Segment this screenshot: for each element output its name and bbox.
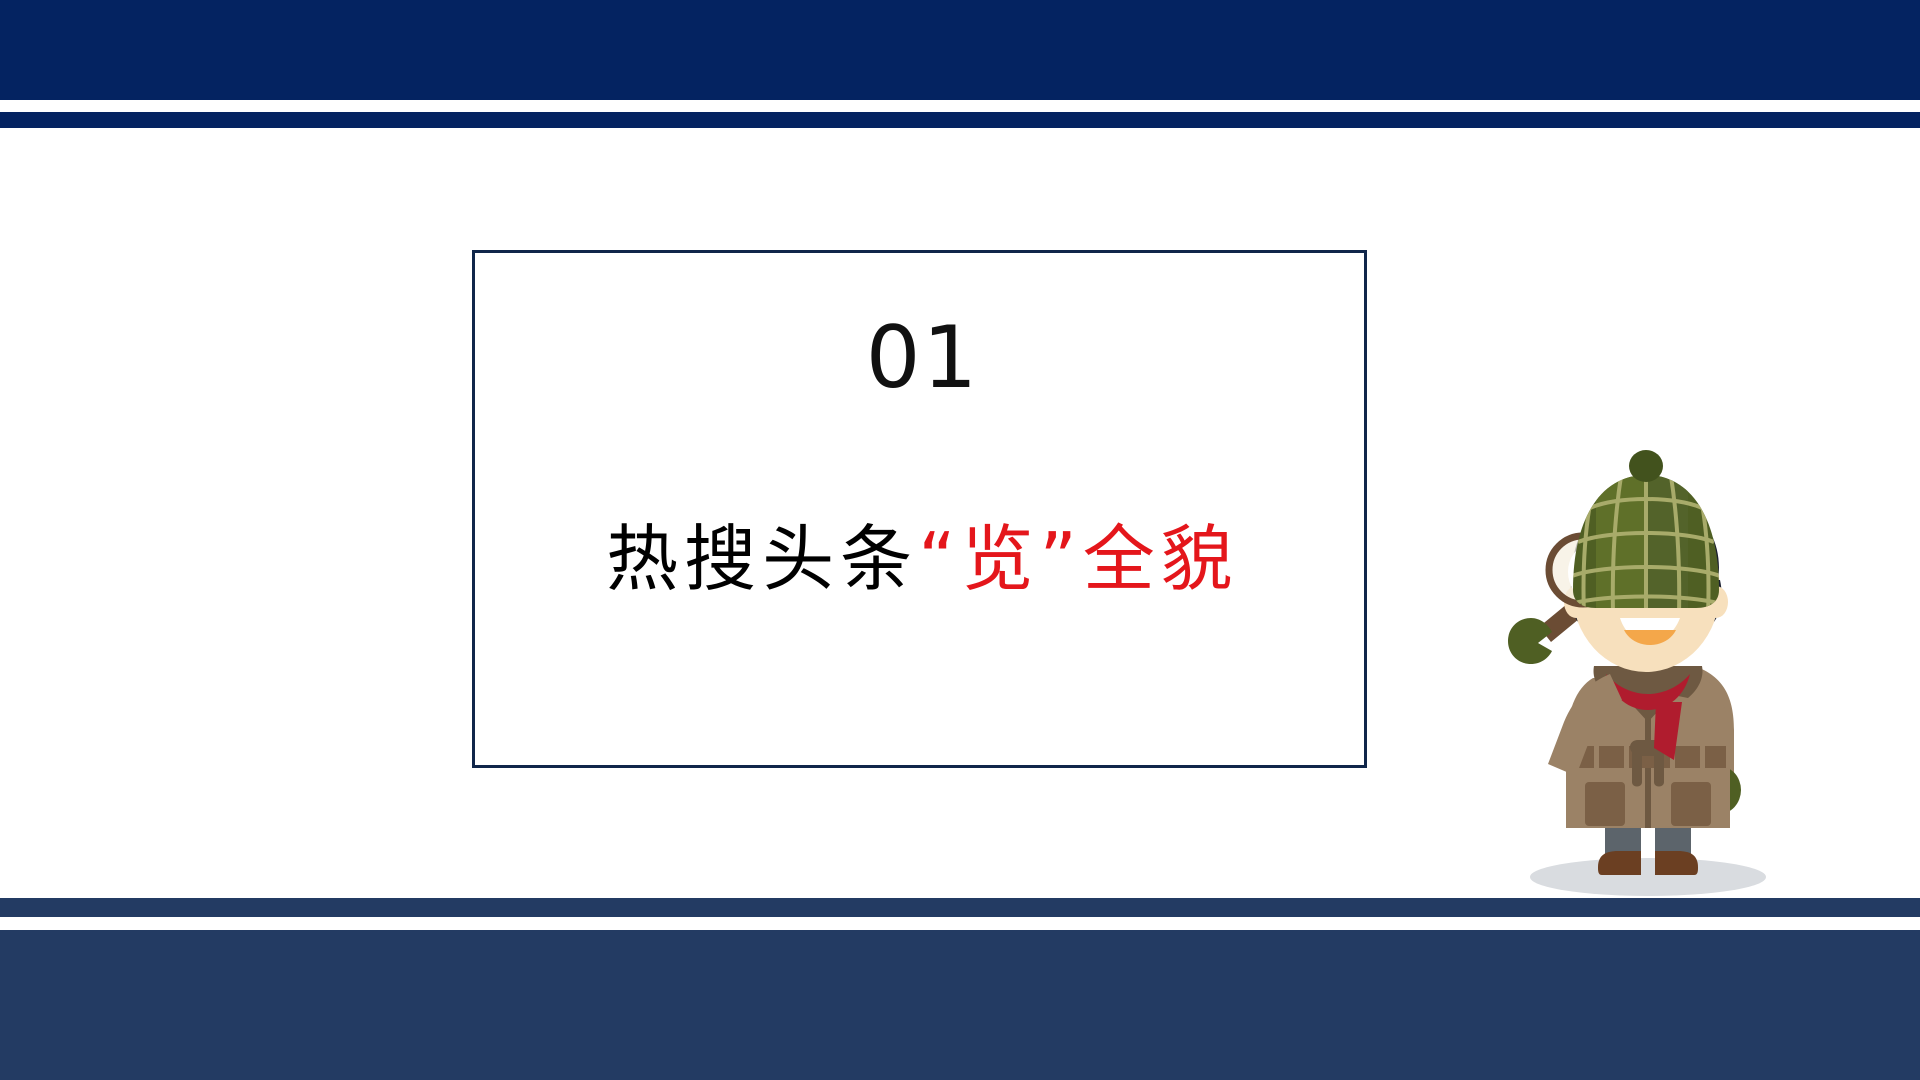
section-content-box: 01 热搜头条“览”全貌	[472, 250, 1367, 768]
section-title-part-3: 全貌	[1083, 517, 1239, 601]
bottom-accent-bar-thin	[0, 898, 1920, 917]
section-title-part-1: 热搜头条	[606, 517, 918, 601]
coat-pocket-left	[1585, 782, 1625, 826]
slide-canvas: 01 热搜头条“览”全貌	[0, 0, 1920, 1080]
top-accent-bar-thin	[0, 112, 1920, 128]
coat-pocket-right	[1671, 782, 1711, 826]
ground-shadow	[1530, 858, 1766, 896]
hat-pompom	[1629, 450, 1663, 482]
bottom-accent-bar-thick	[0, 930, 1920, 1080]
section-title: 热搜头条“览”全貌	[475, 518, 1370, 602]
detective-illustration	[1498, 430, 1798, 905]
left-mitten	[1508, 618, 1552, 664]
section-number: 01	[475, 315, 1370, 401]
deerstalker-hat	[1571, 450, 1721, 615]
top-accent-bar-thick	[0, 0, 1920, 100]
section-title-part-2: “览”	[918, 517, 1083, 601]
